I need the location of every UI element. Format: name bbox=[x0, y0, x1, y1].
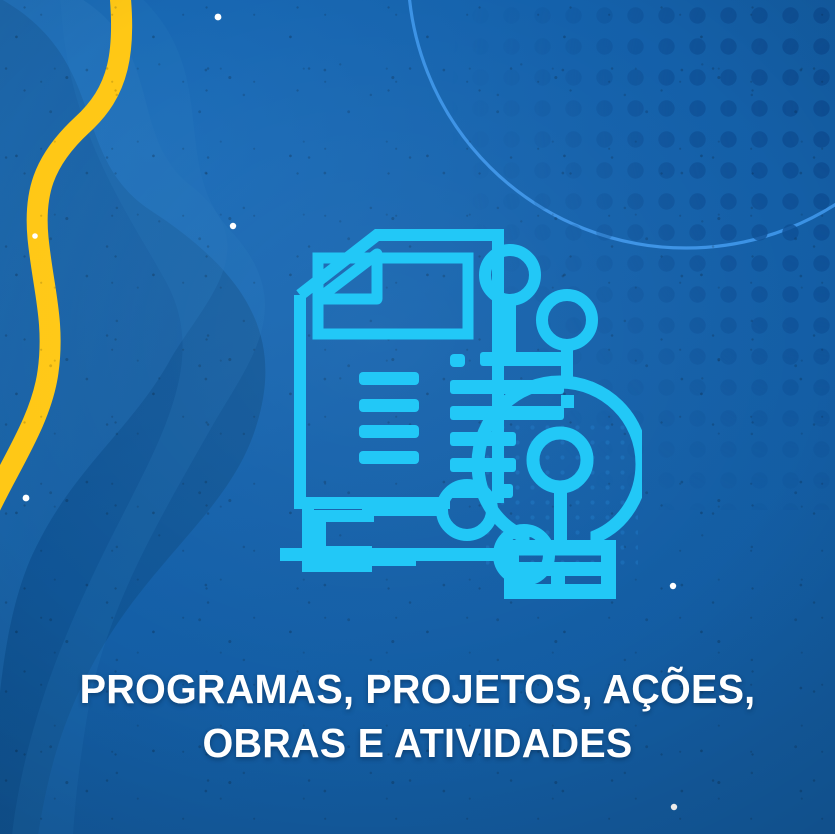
text-lines-left bbox=[359, 372, 419, 464]
document-lightbulb-circuit-icon bbox=[222, 222, 642, 602]
poster-canvas: PROGRAMAS, PROJETOS, AÇÕES, OBRAS E ATIV… bbox=[0, 0, 835, 834]
lightbulb-base bbox=[504, 540, 616, 599]
title-line-2: OBRAS E ATIVIDADES bbox=[15, 716, 821, 770]
pin-square-dot bbox=[561, 395, 574, 408]
page-title: PROGRAMAS, PROJETOS, AÇÕES, OBRAS E ATIV… bbox=[15, 662, 821, 770]
lightbulb-filament bbox=[533, 433, 587, 546]
title-line-1: PROGRAMAS, PROJETOS, AÇÕES, bbox=[15, 662, 821, 716]
